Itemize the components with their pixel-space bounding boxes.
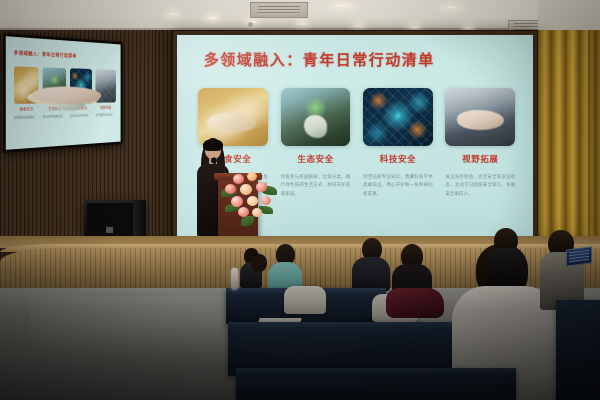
slide-card-ecological-security: 生态安全 积极参与校园植树、垃圾分类，践行绿色低碳生活方式，共同守护美丽家园。 [281,88,351,197]
audience-torso [486,248,526,286]
flower-icon [238,207,249,217]
wheat-grain-image [198,88,268,146]
teamwork-hands-image [445,88,515,146]
secondary-display: 多领域融入：青年日常行动清单 粮食安全 珍惜粮食拒绝浪费 生态安全 践行绿色低碳… [3,33,123,153]
secondary-display-content: 多领域融入：青年日常行动清单 粮食安全 珍惜粮食拒绝浪费 生态安全 践行绿色低碳… [6,36,121,150]
downlight-icon [352,24,365,28]
pa-speaker-logo [106,227,113,233]
slide-title: 多领域融入：青年日常行动清单 [204,49,435,70]
seedling-image [281,88,351,146]
upper-right-wall [538,0,600,34]
flower-icon [247,196,258,206]
air-conditioner-vent [250,2,308,18]
table-top-edge [236,368,516,374]
card-body-text: 关注海外利益、太空安全等前沿动态，主动学习国家安全知识，争做安全明白人。 [445,173,515,197]
downlight-icon [408,25,421,29]
audience-chair [284,286,326,314]
audience-member [352,238,390,290]
downlight-icon [206,16,219,20]
slide-card-vision-expansion: 视野拓展 关注海外利益、太空安全等前沿动态，主动学习国家安全知识，争做安全明白人… [445,88,515,197]
card-label: 科技安全 [363,153,433,165]
card-label: 生态安全 [281,153,351,165]
presenter-fringe [203,139,223,151]
backpack [386,288,444,318]
card-body-text: 刻苦钻研专业知识，勇攀科技学术高峰前沿，用心守护每一份科研创新成果。 [363,173,433,197]
flower-icon [247,172,257,181]
table-top-edge [228,322,458,328]
audience-torso [352,257,390,291]
circuit-image [363,88,433,146]
audience-member [268,244,302,290]
secondary-card-row: 粮食安全 珍惜粮食拒绝浪费 生态安全 践行绿色低碳生活 科技安全 钻研专业守护创… [14,66,116,120]
card-body-text: 积极参与校园植树、垃圾分类，践行绿色低碳生活方式，共同守护美丽家园。 [281,173,351,197]
water-bottle [231,268,238,290]
flower-icon [256,182,267,192]
audience-member [486,228,526,284]
leaf-icon [241,216,254,226]
flower-icon [240,184,252,195]
audience-table-front [236,368,516,400]
laptop[interactable] [566,246,592,266]
downlight-icon [296,22,309,26]
flower-arrangement [219,166,279,228]
pa-speaker-side [133,200,146,240]
slide-card-technology-security: 科技安全 刻苦钻研专业知识，勇攀科技学术高峰前沿，用心守护每一份科研创新成果。 [363,88,433,197]
downlight-icon [440,6,462,9]
audience-member [246,254,272,294]
flower-icon [261,196,271,205]
secondary-slide-title: 多领域融入：青年日常行动清单 [14,49,77,59]
flower-icon [233,174,244,184]
ceiling-sensor-icon [248,22,253,27]
downlight-icon [166,12,179,16]
audience-head [251,254,267,272]
flower-icon [252,208,262,217]
audience-member-backpack [386,288,444,318]
flower-icon [225,184,236,194]
downlight-icon [330,4,356,7]
flower-icon [231,196,243,207]
pa-speaker-box [84,200,146,240]
audience-member [540,230,584,308]
card-label: 视野拓展 [445,153,515,165]
lecture-hall-scene: 多领域融入：青年日常行动清单 粮食安全 珍惜粮食拒绝浪费 生态安全 践行绿色低碳… [0,0,600,400]
audience-table-left [556,300,600,400]
